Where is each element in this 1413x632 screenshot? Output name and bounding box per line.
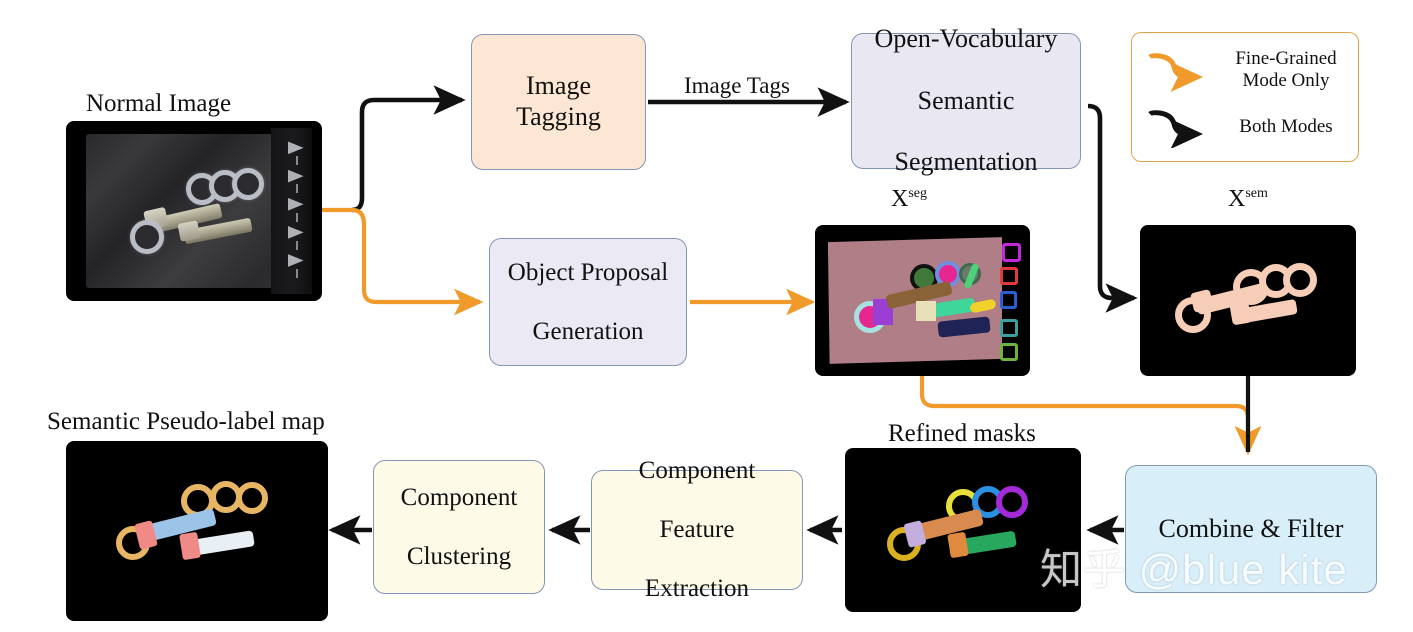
watermark: 知乎 @blue kite (1040, 536, 1348, 597)
panel-normal-image (66, 121, 322, 301)
seg-strip-marks-4 (1000, 319, 1018, 337)
orange-curved-arrow-icon (1142, 47, 1222, 93)
seg-strip-marks-2 (1000, 267, 1018, 285)
legend-box: Fine-Grained Mode Only Both Modes (1131, 32, 1359, 162)
caption-normal-image: Normal Image (86, 90, 231, 118)
black-curved-arrow-icon (1142, 106, 1222, 148)
legend-label-both-modes: Both Modes (1222, 116, 1350, 138)
x-seg-base: X (891, 186, 908, 212)
legend-row-fine-grained: Fine-Grained Mode Only (1132, 39, 1360, 101)
seg-strip-marks-3 (1000, 291, 1017, 309)
panel-pseudo-label-map (66, 441, 328, 621)
seg-strip-marks-1 (1002, 243, 1021, 262)
caption-refined-masks: Refined masks (888, 420, 1036, 448)
node-component-feature-extraction[interactable]: Component Feature Extraction (591, 470, 803, 590)
pseudo-ring-3 (236, 482, 268, 514)
seg-cream-block (916, 301, 936, 321)
x-sem-base: X (1228, 186, 1245, 212)
bolt-2-head (177, 220, 200, 241)
legend-label-fine-grained: Fine-Grained Mode Only (1222, 48, 1350, 92)
panel-x-seg (815, 225, 1030, 376)
node-image-tagging[interactable]: Image Tagging (471, 34, 646, 170)
pseudo-bolt-white (191, 530, 255, 556)
node-object-proposal-generation[interactable]: Object Proposal Generation (489, 238, 687, 366)
sem-bolt-2-head (1229, 301, 1252, 326)
nut-3 (232, 168, 264, 200)
pseudo-label-map-content (66, 441, 328, 621)
pipeline-diagram: Normal Image Xseg Xsem Refined masks Sem… (0, 0, 1413, 632)
normal-image-content (66, 121, 322, 301)
node-component-feature-label: Component Feature Extraction (623, 456, 772, 604)
caption-pseudo-label-map: Semantic Pseudo-label map (47, 408, 325, 436)
x-seg-superscript: seg (908, 186, 927, 201)
node-image-tagging-label: Image Tagging (472, 71, 645, 132)
node-component-clustering[interactable]: Component Clustering (373, 460, 545, 594)
refined-ring-purple (996, 486, 1028, 518)
x-sem-content (1140, 225, 1356, 376)
x-seg-content (815, 225, 1030, 376)
washer-left (130, 220, 164, 254)
bag-label-strip (271, 128, 312, 294)
panel-x-sem (1140, 225, 1356, 376)
legend-row-both-modes: Both Modes (1132, 101, 1360, 153)
pseudo-nut-salmon-2 (179, 532, 201, 560)
caption-x-sem: Xsem (1228, 186, 1268, 213)
refined-nut-orange (947, 532, 969, 559)
node-component-clustering-label: Component Clustering (385, 483, 534, 572)
node-open-vocab-label: Open-Vocabulary Semantic Segmentation (859, 24, 1074, 177)
node-object-proposal-label: Object Proposal Generation (492, 258, 684, 347)
sem-nut-3 (1283, 263, 1317, 297)
x-sem-superscript: sem (1245, 186, 1268, 201)
caption-x-seg: Xseg (891, 186, 927, 213)
seg-strip-marks-5 (1000, 343, 1018, 361)
edge-label-image-tags: Image Tags (684, 73, 790, 99)
node-open-vocabulary-segmentation[interactable]: Open-Vocabulary Semantic Segmentation (851, 33, 1081, 169)
